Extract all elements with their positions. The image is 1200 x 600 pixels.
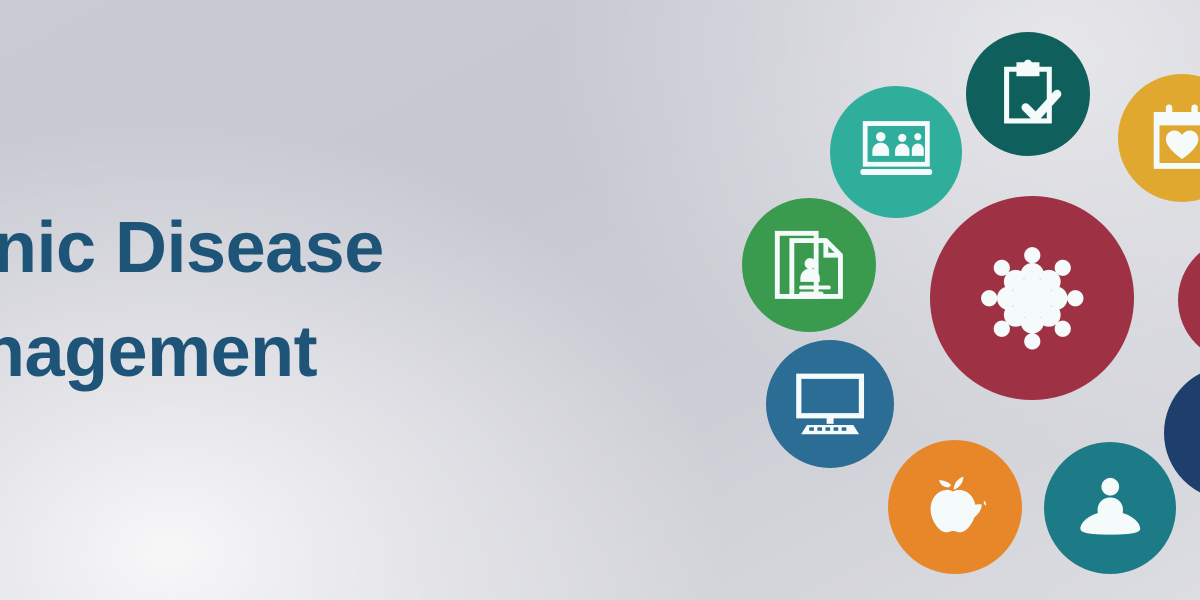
page-title-line-1: ronic Disease bbox=[0, 196, 622, 300]
page-title: ronic Disease lanagement bbox=[0, 196, 622, 405]
medical-records-icon bbox=[742, 198, 876, 332]
page-title-line-2: lanagement bbox=[0, 300, 622, 404]
chronic-disease-management-banner: ronic Disease lanagement bbox=[0, 0, 1200, 600]
calendar-heart-icon bbox=[1118, 74, 1200, 202]
community-icon bbox=[930, 196, 1134, 400]
edge-red-circle bbox=[1178, 238, 1200, 362]
presentation-icon bbox=[830, 86, 962, 218]
nutrition-icon bbox=[888, 440, 1022, 574]
computer-icon bbox=[766, 340, 894, 468]
meditation-icon bbox=[1044, 442, 1176, 574]
clipboard-check-icon bbox=[966, 32, 1090, 156]
